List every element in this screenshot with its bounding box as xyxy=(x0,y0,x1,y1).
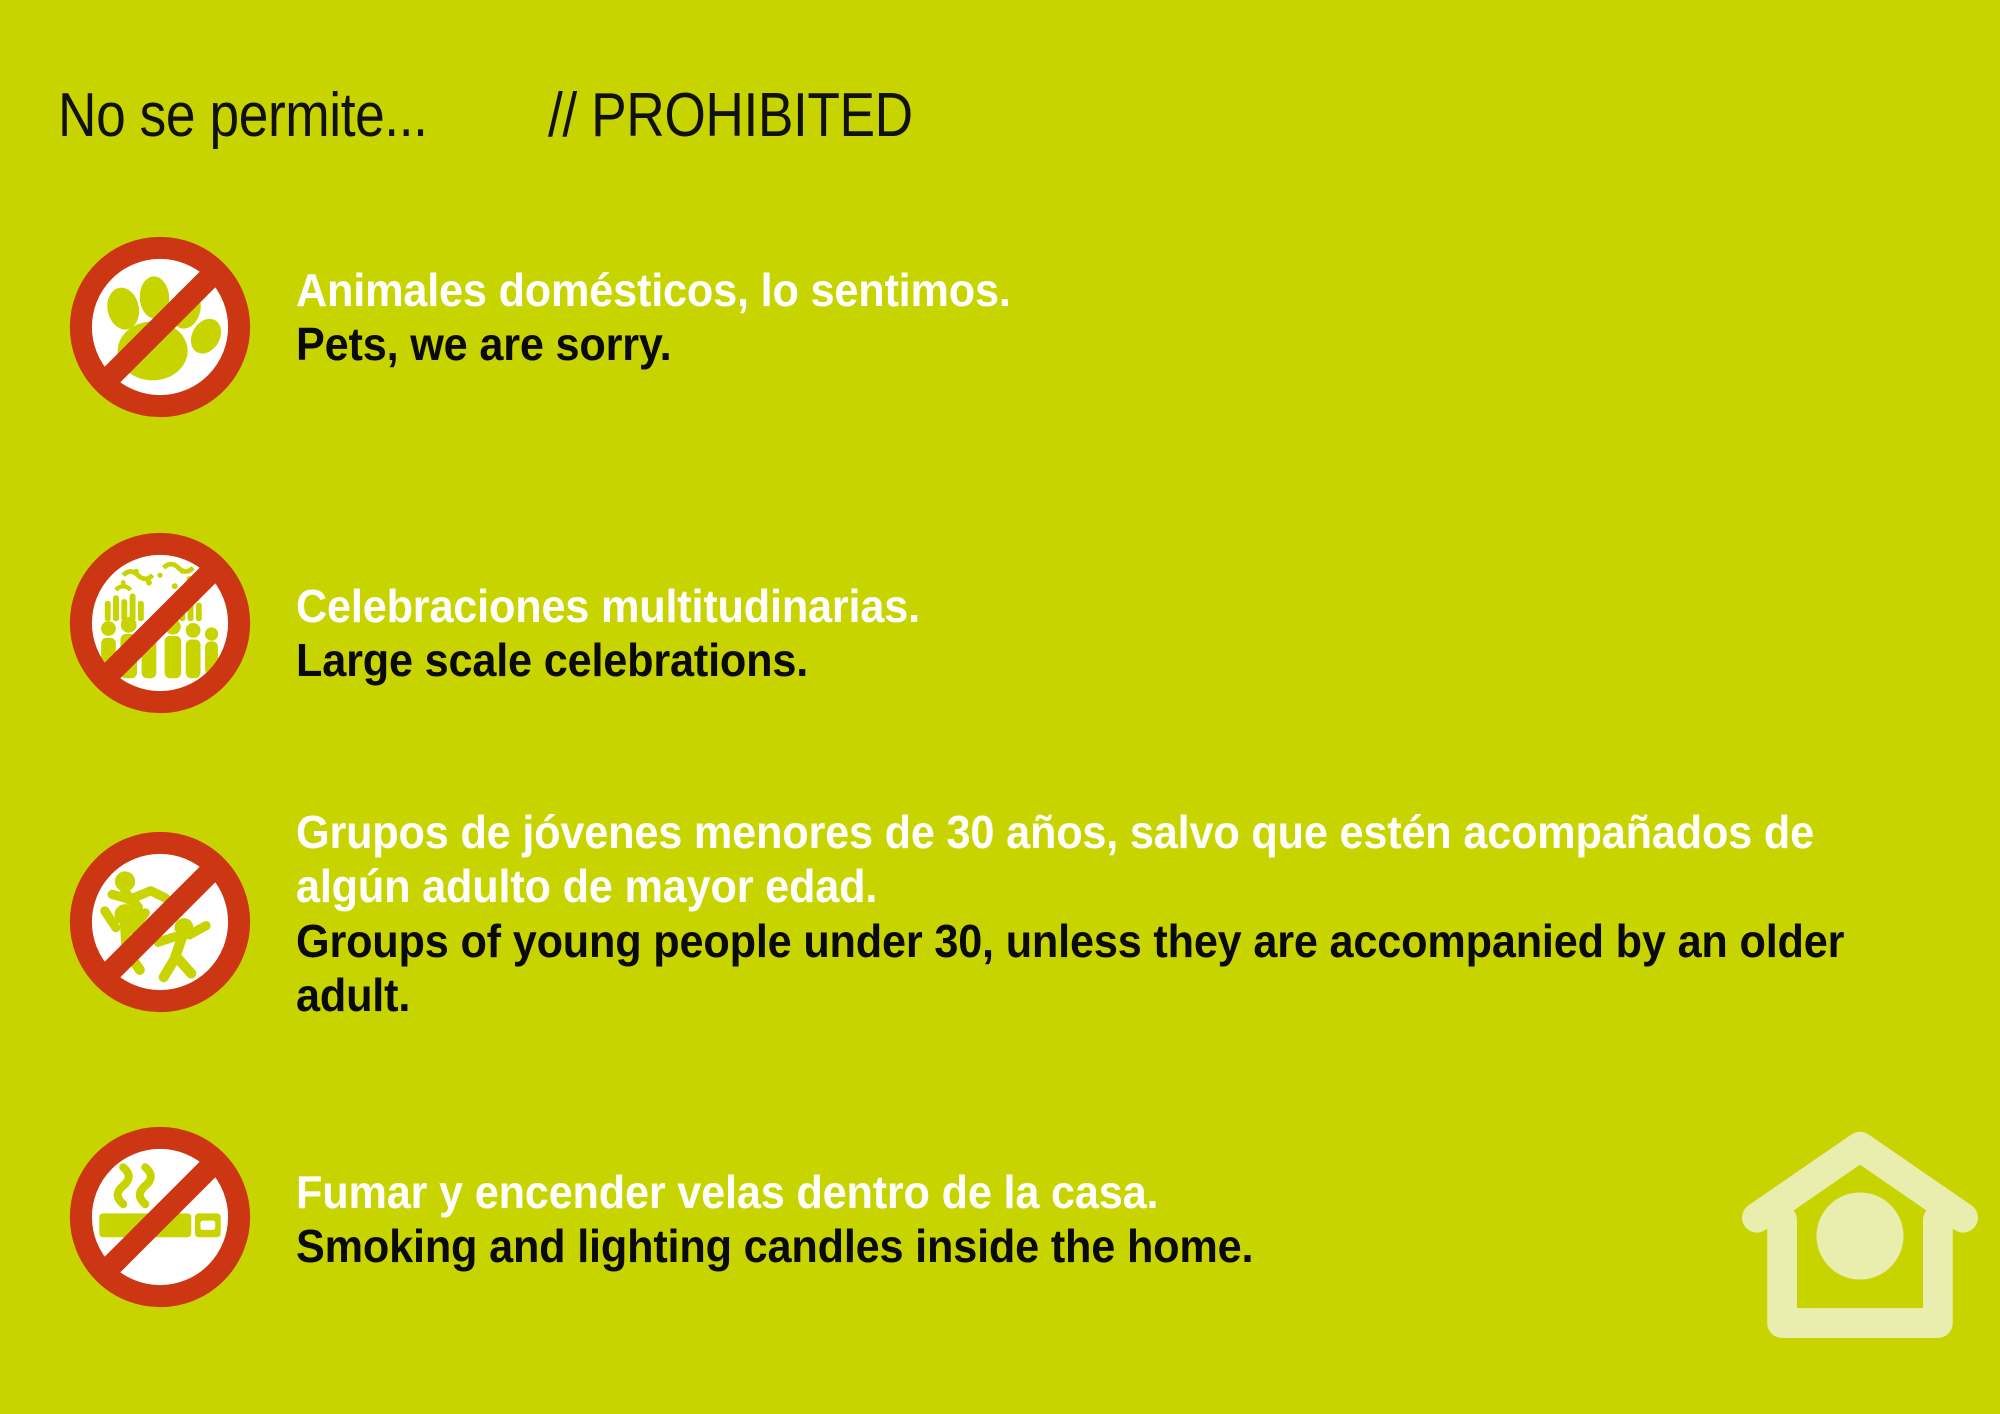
rule-text-english: Pets, we are sorry. xyxy=(296,317,1875,371)
rule-text-spanish: Animales domésticos, lo sentimos. xyxy=(296,263,1875,317)
no-pets-paw-icon xyxy=(68,235,252,419)
no-large-celebrations-crowd-icon xyxy=(68,531,252,715)
page-title: No se permite... // PROHIBITED xyxy=(58,80,972,151)
no-smoking-candles-icon xyxy=(68,1125,252,1309)
title-spanish: No se permite... xyxy=(58,80,427,151)
rule-text-english: Large scale celebrations. xyxy=(296,633,1875,687)
no-young-groups-icon xyxy=(68,830,252,1014)
rule-text: Fumar y encender velas dentro de la casa… xyxy=(296,1165,1976,1274)
rule-text-spanish: Fumar y encender velas dentro de la casa… xyxy=(296,1165,1875,1219)
rule-text-english: Groups of young people under 30, unless … xyxy=(296,914,1875,1023)
title-english: // PROHIBITED xyxy=(548,80,913,151)
rule-text-spanish: Celebraciones multitudinarias. xyxy=(296,579,1875,633)
house-logo xyxy=(1734,1116,1986,1356)
rule-text-english: Smoking and lighting candles inside the … xyxy=(296,1219,1875,1273)
rule-text: Animales domésticos, lo sentimos. Pets, … xyxy=(296,263,1976,372)
rule-text: Celebraciones multitudinarias. Large sca… xyxy=(296,579,1976,688)
rule-text-spanish: Grupos de jóvenes menores de 30 años, sa… xyxy=(296,805,1875,914)
prohibition-sign: No se permite... // PROHIBITED xyxy=(0,0,2000,1414)
rule-text: Grupos de jóvenes menores de 30 años, sa… xyxy=(296,805,1976,1022)
